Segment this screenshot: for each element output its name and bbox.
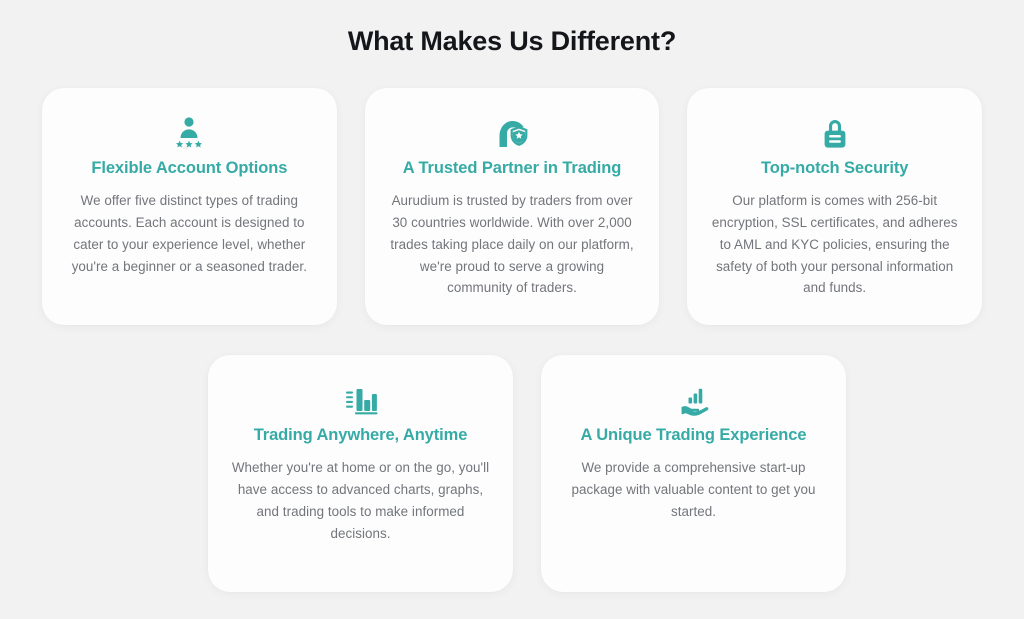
feature-card-flexible-account-options[interactable]: Flexible Account Options We offer five d… — [42, 88, 337, 325]
user-with-stars-icon — [173, 114, 205, 152]
bar-chart-icon — [344, 381, 378, 419]
hand-holding-chart-icon — [678, 381, 710, 419]
feature-card-body: Aurudium is trusted by traders from over… — [387, 190, 638, 299]
feature-card-title: A Unique Trading Experience — [581, 425, 807, 446]
feature-card-unique-experience[interactable]: A Unique Trading Experience We provide a… — [541, 355, 846, 592]
feature-card-title: Trading Anywhere, Anytime — [254, 425, 468, 446]
feature-card-body: Our platform is comes with 256-bit encry… — [709, 190, 960, 299]
page-title: What Makes Us Different? — [0, 26, 1024, 57]
feature-card-row-top: Flexible Account Options We offer five d… — [42, 88, 982, 325]
feature-card-title: Flexible Account Options — [91, 158, 287, 179]
head-with-shield-icon — [495, 114, 529, 152]
feature-card-title: A Trusted Partner in Trading — [403, 158, 621, 179]
feature-card-body: We offer five distinct types of trading … — [64, 190, 315, 277]
features-section: What Makes Us Different? Flexible Accoun… — [0, 0, 1024, 619]
padlock-icon — [821, 114, 849, 152]
feature-card-title: Top-notch Security — [761, 158, 908, 179]
feature-card-top-notch-security[interactable]: Top-notch Security Our platform is comes… — [687, 88, 982, 325]
feature-card-row-bottom: Trading Anywhere, Anytime Whether you're… — [208, 355, 846, 592]
feature-card-body: Whether you're at home or on the go, you… — [230, 457, 491, 544]
feature-card-body: We provide a comprehensive start-up pack… — [563, 457, 824, 522]
feature-card-trading-anywhere[interactable]: Trading Anywhere, Anytime Whether you're… — [208, 355, 513, 592]
feature-card-trusted-partner[interactable]: A Trusted Partner in Trading Aurudium is… — [365, 88, 660, 325]
